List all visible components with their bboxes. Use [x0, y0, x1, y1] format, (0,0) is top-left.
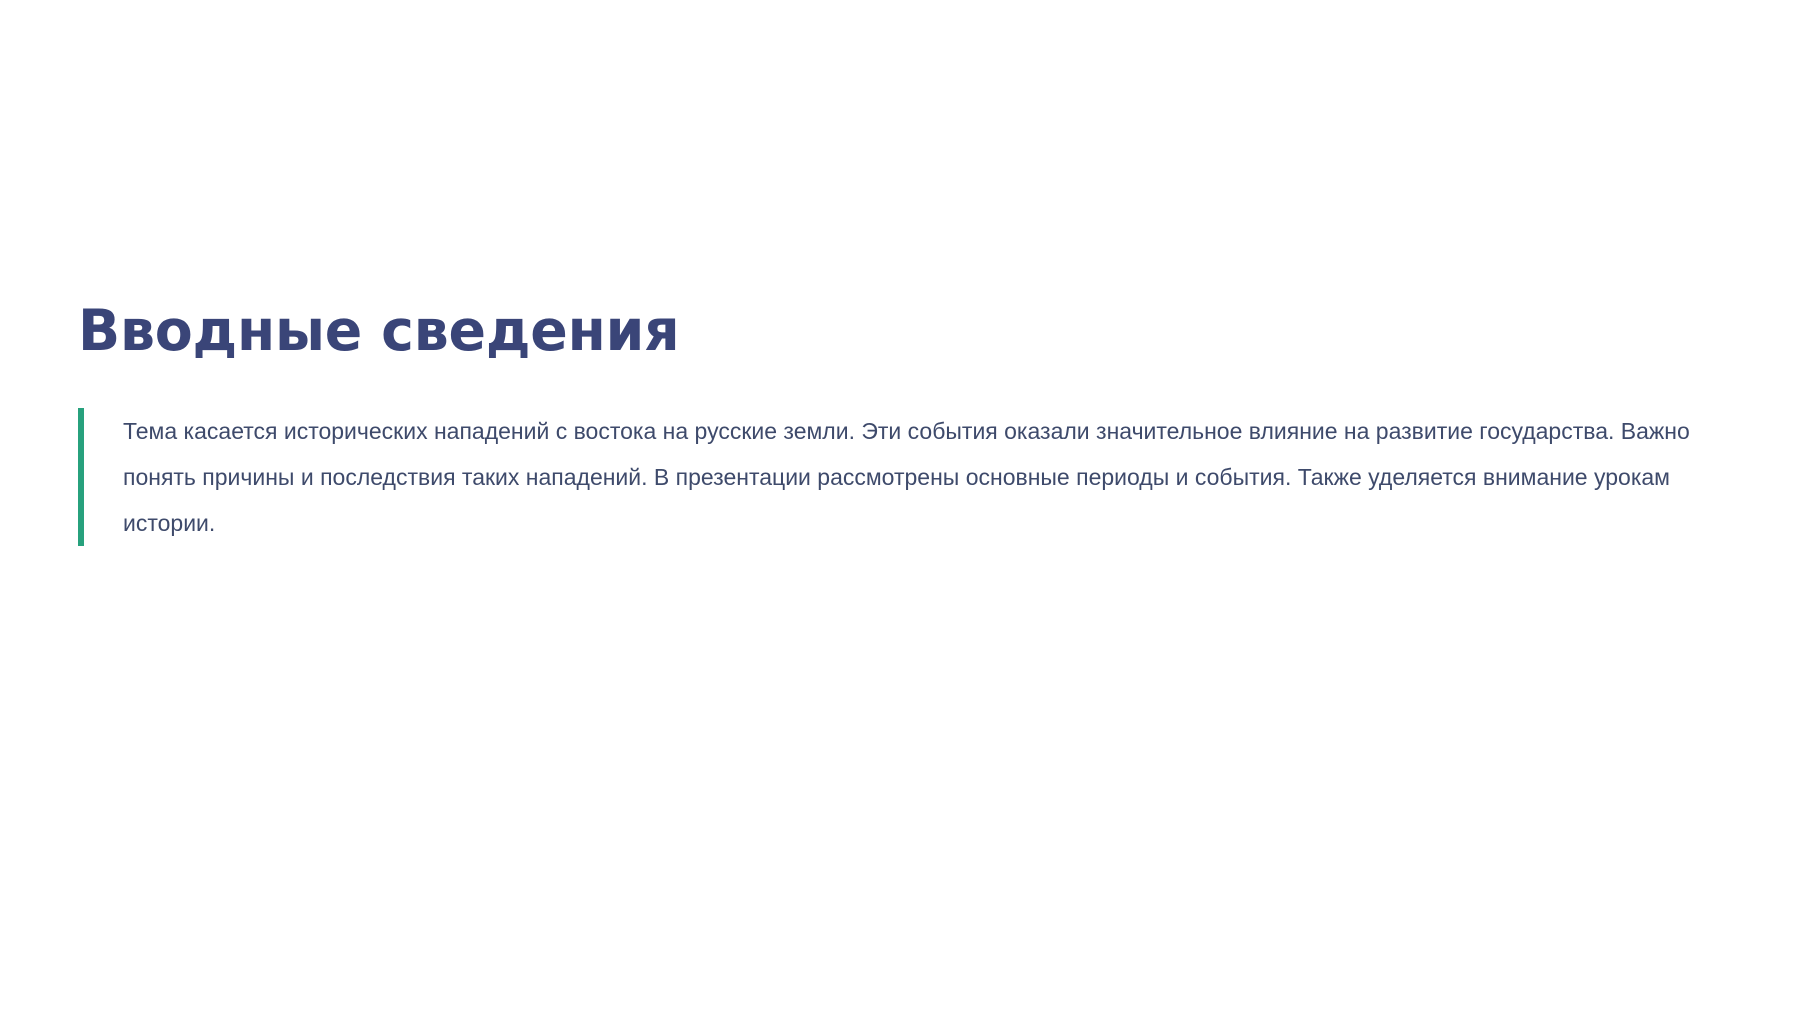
body-text-block: Тема касается исторических нападений с в… — [78, 408, 1718, 546]
presentation-slide: Вводные сведения Тема касается историчес… — [0, 0, 1800, 1013]
body-paragraph: Тема касается исторических нападений с в… — [123, 408, 1718, 546]
accent-bar — [78, 408, 84, 546]
slide-content-block: Вводные сведения Тема касается историчес… — [78, 300, 1718, 546]
page-title: Вводные сведения — [78, 300, 1669, 364]
